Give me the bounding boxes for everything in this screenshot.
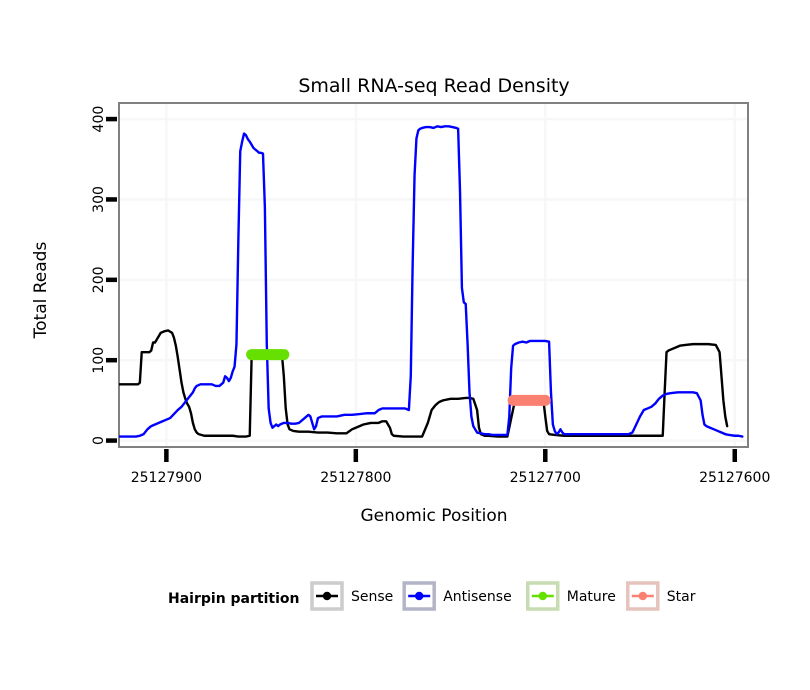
legend-key-point xyxy=(323,592,331,600)
x-axis-tick-label: 25127700 xyxy=(510,470,581,486)
y-axis-title: Total Reads xyxy=(31,242,51,340)
y-axis-tick-label: 300 xyxy=(91,186,107,213)
legend-entry-label: Star xyxy=(667,589,696,605)
legend-title: Hairpin partition xyxy=(168,591,299,607)
panel-border xyxy=(119,103,748,447)
x-axis-title: Genomic Position xyxy=(360,506,507,526)
read-density-chart: Small RNA-seq Read Density 0100200300400… xyxy=(0,0,810,690)
legend-entry-label: Antisense xyxy=(443,589,512,605)
legend-key-point xyxy=(639,592,647,600)
y-axis-tick-label: 100 xyxy=(91,347,107,374)
y-axis-tick-label: 200 xyxy=(91,266,107,293)
x-axis-tick-label: 25127800 xyxy=(320,470,391,486)
chart-figure: Small RNA-seq Read Density 0100200300400… xyxy=(0,0,810,690)
y-axis-tick-label: 0 xyxy=(91,436,107,445)
legend-entry-label: Sense xyxy=(351,589,393,605)
y-axis-tick-label: 400 xyxy=(91,106,107,133)
legend-key-point xyxy=(539,592,547,600)
legend-key-point xyxy=(415,592,423,600)
x-axis-tick-label: 25127600 xyxy=(699,470,770,486)
x-axis-tick-label: 25127900 xyxy=(131,470,202,486)
plot-panel xyxy=(119,103,748,447)
legend-entry-label: Mature xyxy=(567,589,616,605)
page-title: Small RNA-seq Read Density xyxy=(298,75,569,97)
